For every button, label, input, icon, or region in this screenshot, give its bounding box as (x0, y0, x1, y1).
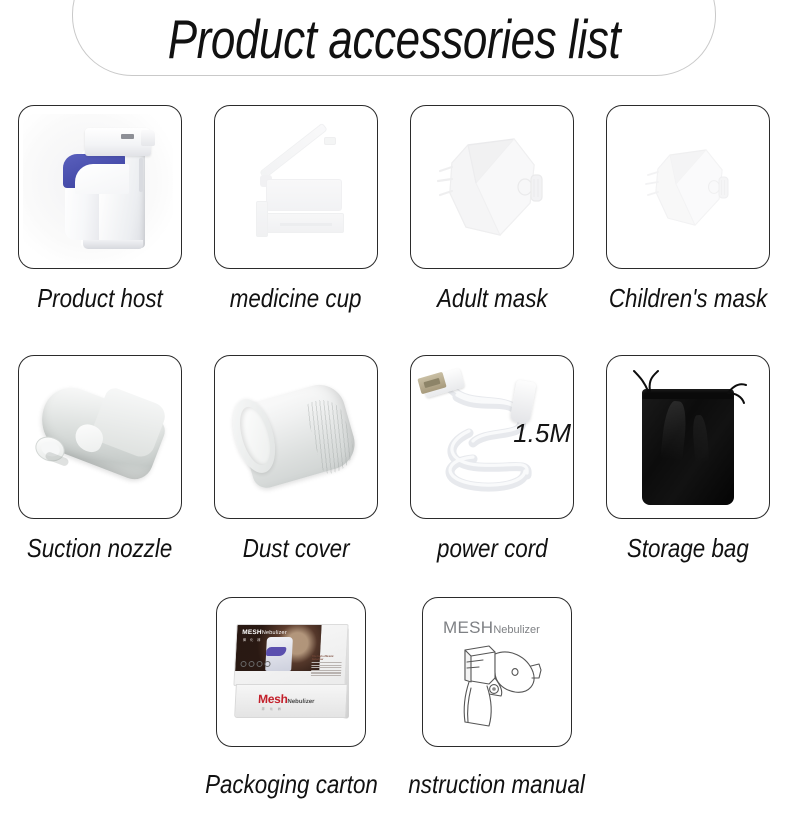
accessory-label: nstruction manual (409, 769, 586, 799)
instruction-manual-icon: MESHNebulizer (423, 598, 571, 746)
carton-top-brand-sub: 雾 化 器 (243, 637, 262, 642)
medicine-cup-icon (215, 106, 377, 268)
carton-front-brand: MeshNebulizer (258, 692, 315, 706)
product-accessories-page: Product accessories list (0, 0, 788, 839)
accessory-item-instruction-manual[interactable]: MESHNebulizer (415, 597, 579, 799)
accessory-label: Product host (37, 283, 163, 313)
accessory-card[interactable] (606, 105, 770, 269)
accessory-card[interactable] (18, 355, 182, 519)
storage-bag-icon (607, 356, 769, 518)
carton-front-sub: 雾 化 器 (261, 706, 283, 711)
accessory-item-storage-bag[interactable]: Storage bag (606, 355, 770, 563)
accessory-label: Dust cover (243, 533, 350, 563)
packaging-carton-icon: MESHNebulizer 雾 化 器 The high efficient N… (217, 598, 365, 746)
accessory-row-2: Suction nozzle Dust cover (0, 355, 788, 563)
accessory-item-children-mask[interactable]: Children's mask (606, 105, 770, 313)
accessory-item-dust-cover[interactable]: Dust cover (214, 355, 378, 563)
carton-top-brand: MESHNebulizer (242, 629, 287, 636)
accessory-row-3: MESHNebulizer 雾 化 器 The high efficient N… (0, 597, 788, 799)
accessory-label: Children's mask (609, 283, 767, 313)
accessory-item-packaging-carton[interactable]: MESHNebulizer 雾 化 器 The high efficient N… (209, 597, 373, 799)
accessory-card[interactable] (606, 355, 770, 519)
page-header: Product accessories list (0, 0, 788, 96)
adult-mask-icon (411, 106, 573, 268)
accessory-label: Storage bag (627, 533, 749, 563)
suction-nozzle-icon (19, 356, 181, 518)
accessory-card[interactable]: MESHNebulizer 雾 化 器 The high efficient N… (216, 597, 366, 747)
accessory-item-power-cord[interactable]: 1.5M power cord (410, 355, 574, 563)
accessory-label: Suction nozzle (27, 533, 172, 563)
carton-certification-icons (240, 661, 270, 667)
accessory-item-product-host[interactable]: Product host (18, 105, 182, 313)
manual-brand: MESHNebulizer (443, 618, 540, 638)
accessory-card[interactable] (18, 105, 182, 269)
accessory-card[interactable]: MESHNebulizer (422, 597, 572, 747)
accessory-card[interactable]: 1.5M (410, 355, 574, 519)
children-mask-icon (607, 106, 769, 268)
power-cord-icon: 1.5M (411, 356, 573, 518)
cord-length-badge: 1.5M (513, 419, 571, 447)
accessory-item-suction-nozzle[interactable]: Suction nozzle (18, 355, 182, 563)
accessory-label: Packoging carton (205, 769, 378, 799)
accessory-card[interactable] (410, 105, 574, 269)
accessory-row-1: Product host medicine cup (0, 105, 788, 313)
accessory-label: medicine cup (230, 283, 362, 313)
carton-copy-block: The high efficient Nebulizer (311, 655, 342, 677)
accessory-card[interactable] (214, 355, 378, 519)
accessory-label: Adult mask (437, 283, 548, 313)
accessory-item-adult-mask[interactable]: Adult mask (410, 105, 574, 313)
accessory-label: power cord (437, 533, 548, 563)
accessory-item-medicine-cup[interactable]: medicine cup (214, 105, 378, 313)
dust-cover-icon (215, 356, 377, 518)
accessory-card[interactable] (214, 105, 378, 269)
page-title: Product accessories list (79, 6, 709, 72)
nebulizer-host-icon (19, 106, 181, 268)
